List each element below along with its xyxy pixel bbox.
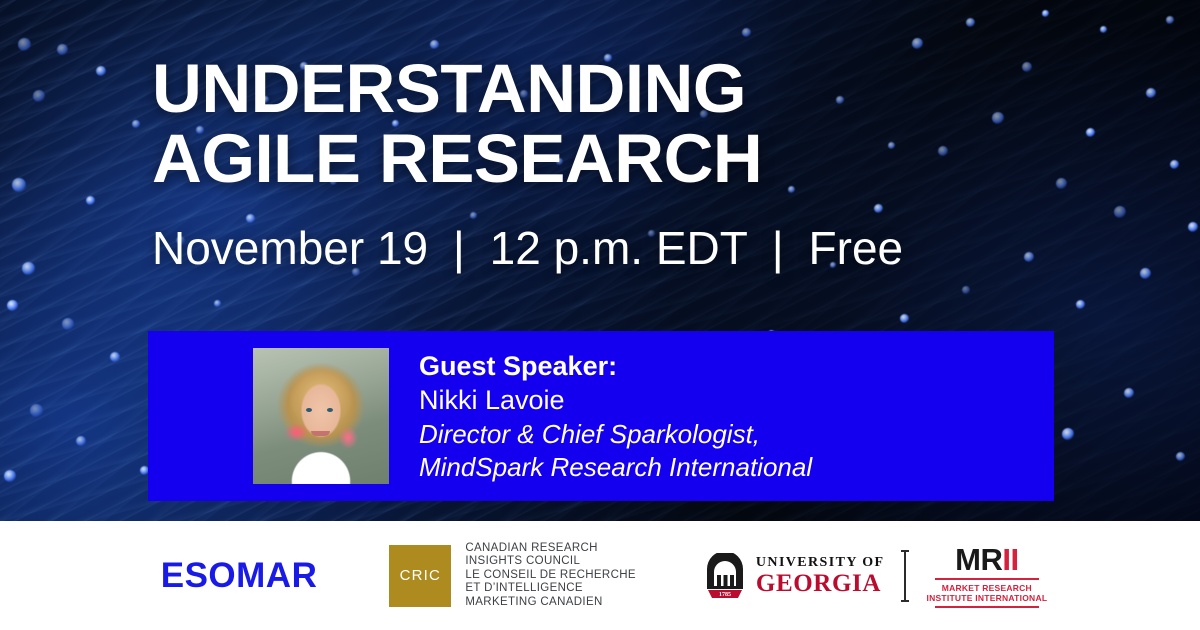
light-dot	[18, 38, 31, 51]
light-dot	[1176, 452, 1185, 461]
portrait-mouth	[311, 431, 330, 436]
webinar-promo-poster: UNDERSTANDING AGILE RESEARCH November 19…	[0, 0, 1200, 630]
light-dot	[1170, 160, 1179, 169]
cric-line-1: CANADIAN RESEARCH	[465, 542, 636, 555]
light-dot	[110, 352, 120, 362]
mrii-mark-red: II	[1002, 542, 1018, 577]
uga-founded-year: 1785	[719, 592, 731, 598]
light-dot	[900, 314, 909, 323]
light-dot	[470, 212, 477, 219]
headline-line-1: UNDERSTANDING	[152, 50, 746, 127]
headline-line-2: AGILE RESEARCH	[152, 124, 952, 194]
uga-university-of-text: UNIVERSITY OF	[756, 556, 885, 570]
avatar	[253, 348, 389, 484]
detail-separator-2: |	[760, 222, 796, 274]
light-dot	[214, 300, 221, 307]
speaker-portrait-photo	[253, 348, 389, 484]
light-dot	[874, 204, 883, 213]
speaker-name: Nikki Lavoie	[419, 383, 1054, 418]
light-dot	[1124, 388, 1134, 398]
portrait-eye-right	[327, 408, 333, 412]
mrii-rule-bottom	[935, 606, 1039, 608]
light-dot	[57, 44, 68, 55]
light-dot	[1146, 88, 1156, 98]
event-price: Free	[809, 222, 904, 274]
guest-speaker-label: Guest Speaker:	[419, 349, 1054, 383]
mrii-mark-dark: MR	[955, 542, 1002, 577]
cric-mark: CRIC	[389, 545, 451, 607]
light-dot	[742, 28, 751, 37]
light-dot	[962, 286, 970, 294]
light-dot	[1166, 16, 1174, 24]
mrii-rule-top	[935, 578, 1039, 580]
event-time: 12 p.m. EDT	[490, 222, 747, 274]
light-dot	[12, 178, 26, 192]
mrii-logo: MRII MARKET RESEARCH INSTITUTE INTERNATI…	[926, 544, 1047, 608]
light-dot	[30, 404, 43, 417]
logo-divider	[904, 550, 906, 602]
uga-wordmark: UNIVERSITY OF GEORGIA	[756, 556, 885, 596]
cric-line-3: LE CONSEIL DE RECHERCHE	[465, 569, 636, 582]
event-details: November 19 | 12 p.m. EDT | Free	[152, 222, 903, 274]
light-dot	[966, 18, 975, 27]
light-dot	[912, 38, 923, 49]
cric-line-2: INSIGHTS COUNCIL	[465, 555, 636, 568]
cric-logo: CRIC CANADIAN RESEARCH INSIGHTS COUNCIL …	[389, 542, 636, 609]
light-dot	[4, 470, 16, 482]
guest-speaker-card: Guest Speaker: Nikki Lavoie Director & C…	[148, 331, 1054, 501]
light-dot	[1062, 428, 1074, 440]
light-dot	[22, 262, 35, 275]
light-dot	[1086, 128, 1095, 137]
light-dot	[86, 196, 95, 205]
uga-arch-icon: 1785	[704, 553, 746, 599]
speaker-info: Guest Speaker: Nikki Lavoie Director & C…	[419, 349, 1054, 484]
cric-line-5: MARKETING CANADIEN	[465, 596, 636, 609]
light-dot	[1100, 26, 1107, 33]
mrii-wordmark: MRII	[926, 544, 1047, 575]
light-dot	[132, 120, 140, 128]
light-dot	[76, 436, 86, 446]
university-of-georgia-logo: 1785 UNIVERSITY OF GEORGIA	[704, 553, 885, 599]
light-dot	[62, 318, 74, 330]
event-date: November 19	[152, 222, 428, 274]
light-dot	[1188, 222, 1198, 232]
light-dot	[96, 66, 106, 76]
sponsor-logo-bar: ESOMAR CRIC CANADIAN RESEARCH INSIGHTS C…	[0, 521, 1200, 630]
light-dot	[992, 112, 1004, 124]
esomar-wordmark: ESOMAR	[161, 556, 318, 596]
light-dot	[430, 40, 439, 49]
esomar-logo: ESOMAR	[153, 556, 390, 596]
cric-name-lines: CANADIAN RESEARCH INSIGHTS COUNCIL LE CO…	[465, 542, 636, 609]
uga-georgia-text: GEORGIA	[756, 571, 885, 596]
portrait-eye-left	[306, 408, 312, 412]
light-dot	[1042, 10, 1049, 17]
light-dot	[1114, 206, 1126, 218]
mrii-sub-line-1: MARKET RESEARCH	[926, 583, 1047, 593]
page-title: UNDERSTANDING AGILE RESEARCH	[152, 54, 952, 194]
speaker-title-line-2: MindSpark Research International	[419, 451, 1054, 484]
speaker-title-line-1: Director & Chief Sparkologist,	[419, 418, 1054, 451]
light-dot	[1140, 268, 1151, 279]
detail-separator-1: |	[441, 222, 477, 274]
mrii-sub-line-2: INSTITUTE INTERNATIONAL	[926, 593, 1047, 603]
cric-line-4: ET D’INTELLIGENCE	[465, 582, 636, 595]
light-dot	[1024, 252, 1034, 262]
light-dot	[7, 300, 18, 311]
light-dot	[33, 90, 45, 102]
light-dot	[1022, 62, 1032, 72]
light-dot	[1076, 300, 1085, 309]
light-dot	[1056, 178, 1067, 189]
